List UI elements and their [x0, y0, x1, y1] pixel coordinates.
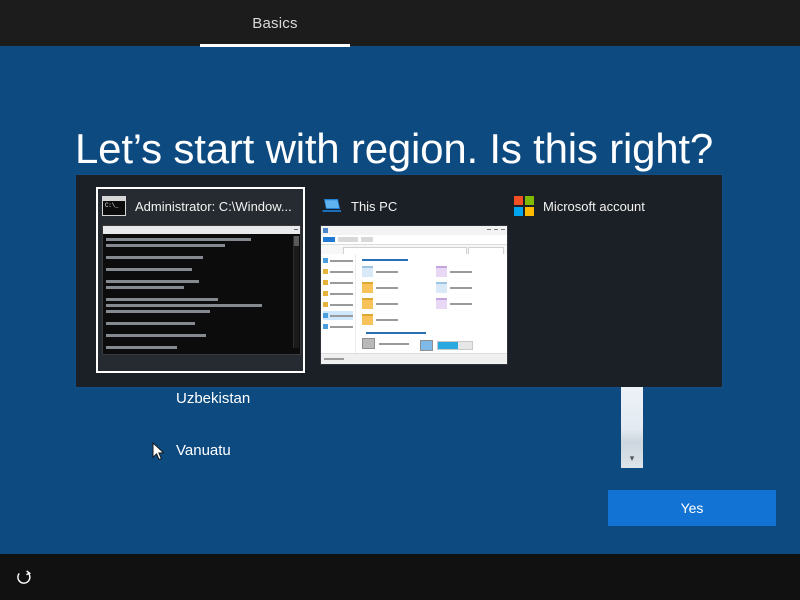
yes-button[interactable]: Yes	[608, 490, 776, 526]
region-list[interactable]: Uzbekistan Vanuatu	[176, 390, 596, 494]
command-prompt-icon: C:\_	[102, 196, 126, 216]
oobe-topbar: Basics	[0, 0, 800, 46]
task-item-title: This PC	[351, 199, 397, 214]
command-prompt-window-preview	[102, 225, 301, 355]
preview-titlebar	[103, 226, 300, 234]
task-item-thumbnail[interactable]	[320, 225, 506, 363]
task-item-title: Administrator: C:\Window...	[135, 199, 292, 214]
oobe-bottombar	[0, 554, 800, 600]
mouse-cursor	[152, 442, 166, 462]
preview-console-text	[106, 238, 292, 346]
preview-navpane	[321, 254, 356, 354]
task-item-header: This PC	[320, 189, 525, 223]
region-list-item[interactable]: Vanuatu	[176, 442, 596, 460]
tab-active-indicator	[200, 44, 350, 47]
file-explorer-window-preview	[320, 225, 508, 365]
preview-scrollbar	[293, 236, 299, 348]
preview-titlebar	[321, 226, 507, 235]
task-switcher-item-command-prompt[interactable]: C:\_ Administrator: C:\Window...	[98, 189, 303, 371]
this-pc-icon	[320, 197, 342, 215]
task-item-header: C:\_ Administrator: C:\Window...	[98, 189, 303, 223]
scroll-down-icon[interactable]: ▾	[621, 448, 643, 468]
task-item-header: Microsoft account	[514, 189, 719, 223]
region-list-item[interactable]: Uzbekistan	[176, 390, 596, 408]
preview-content	[321, 254, 507, 354]
page-title: Let’s start with region. Is this right?	[75, 126, 713, 172]
power-icon[interactable]	[15, 568, 33, 586]
task-item-title: Microsoft account	[543, 199, 645, 214]
microsoft-logo-icon	[514, 196, 534, 216]
tab-basics[interactable]: Basics	[200, 0, 350, 46]
task-switcher-item-microsoft-account[interactable]: Microsoft account	[514, 189, 719, 371]
cmd-glyph: C:\_	[105, 203, 118, 209]
task-switcher-overlay[interactable]: C:\_ Administrator: C:\Window...	[76, 175, 722, 387]
oobe-page: Uzbekistan Vanuatu Let’s start with regi…	[0, 0, 800, 600]
task-switcher-item-this-pc[interactable]: This PC	[320, 189, 525, 371]
task-item-thumbnail[interactable]	[102, 225, 299, 353]
preview-statusbar	[321, 353, 507, 364]
preview-ribbon	[321, 235, 507, 245]
